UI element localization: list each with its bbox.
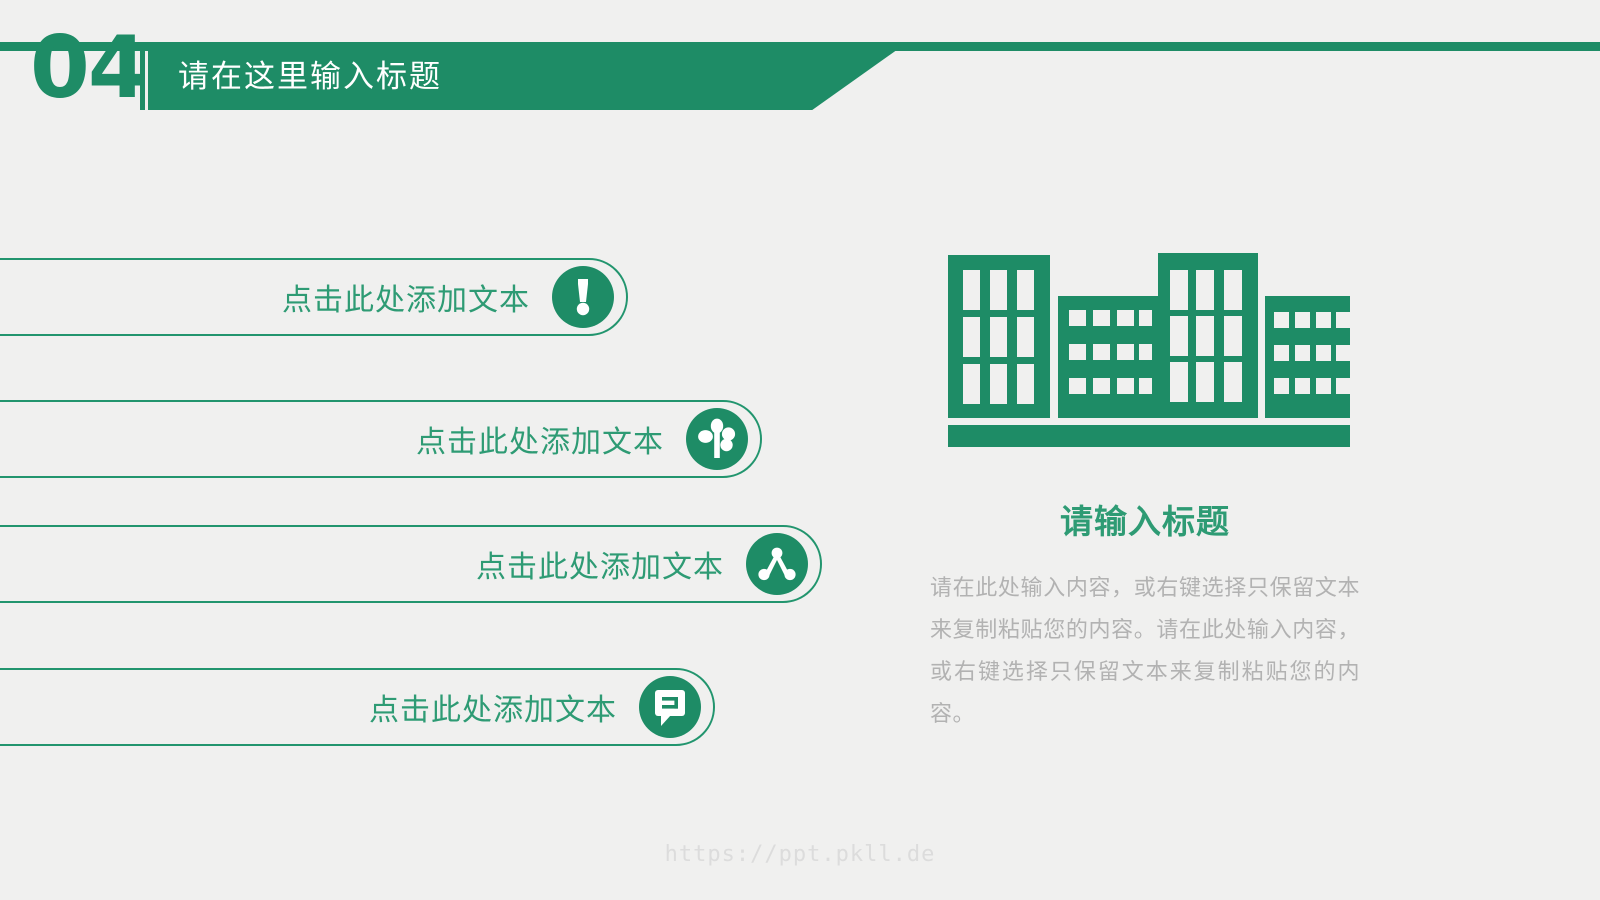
list-item[interactable]: 点击此处添加文本	[0, 400, 762, 478]
list-item[interactable]: 点击此处添加文本	[0, 525, 822, 603]
city-buildings-icon	[930, 240, 1350, 455]
slide-header: 04 请在这里输入标题	[0, 0, 1600, 140]
list-item-label: 点击此处添加文本	[476, 542, 724, 586]
section-number: 04	[30, 25, 146, 111]
right-panel-title: 请输入标题	[930, 495, 1360, 543]
right-panel-body: 请在此处输入内容，或右键选择只保留文本来复制粘贴您的内容。请在此处输入内容，或右…	[930, 567, 1360, 735]
list-item[interactable]: 点击此处添加文本	[0, 668, 715, 746]
network-share-icon	[746, 533, 808, 595]
right-content-panel: 请输入标题 请在此处输入内容，或右键选择只保留文本来复制粘贴您的内容。请在此处输…	[930, 240, 1380, 735]
speech-bubble-icon	[639, 676, 701, 738]
exclamation-mark-icon	[552, 266, 614, 328]
list-item-label: 点击此处添加文本	[416, 417, 664, 461]
watermark-url: https://ppt.pkll.de	[0, 842, 1600, 867]
page-title: 请在这里输入标题	[178, 58, 442, 96]
list-item[interactable]: 点击此处添加文本	[0, 258, 628, 336]
list-item-label: 点击此处添加文本	[369, 685, 617, 729]
clover-tree-icon	[686, 408, 748, 470]
list-item-label: 点击此处添加文本	[282, 275, 530, 319]
bullet-list: 点击此处添加文本 点击此处添加文本 点击此处添加文本	[0, 240, 900, 770]
